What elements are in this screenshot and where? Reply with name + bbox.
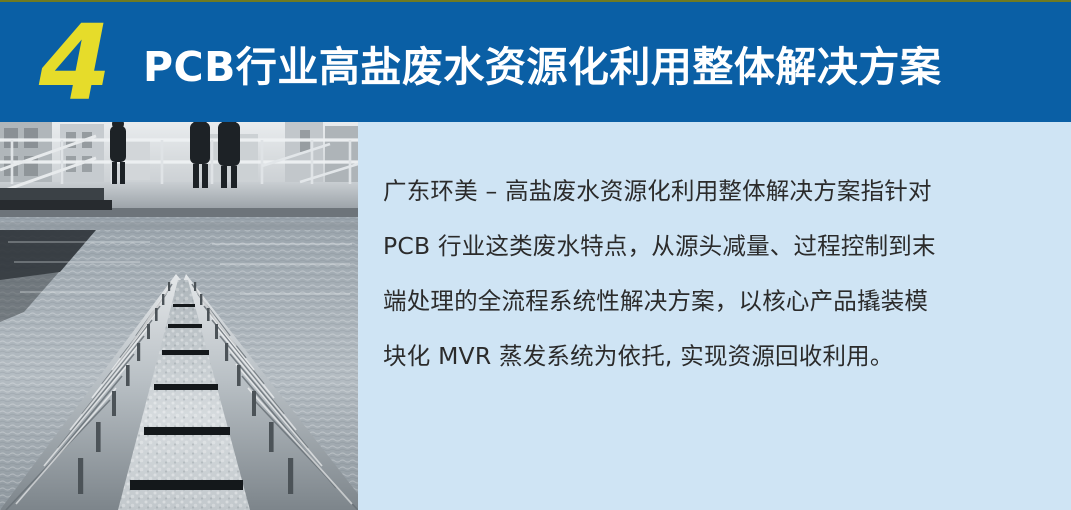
- description-text: 广东环美 – 高盐废水资源化利用整体解决方案指针对 PCB 行业这类废水特点，从…: [383, 164, 1028, 384]
- header-bar: 4 PCB行业高盐废水资源化利用整体解决方案: [0, 0, 1071, 122]
- wastewater-basin-photo: [0, 122, 358, 510]
- section-number-badge: 4: [28, 8, 120, 118]
- page-title: PCB行业高盐废水资源化利用整体解决方案: [143, 2, 941, 122]
- solution-card: 4 PCB行业高盐废水资源化利用整体解决方案: [0, 0, 1071, 510]
- wastewater-basin-photo-graphic: [0, 122, 358, 510]
- description-panel: 广东环美 – 高盐废水资源化利用整体解决方案指针对 PCB 行业这类废水特点，从…: [358, 122, 1071, 510]
